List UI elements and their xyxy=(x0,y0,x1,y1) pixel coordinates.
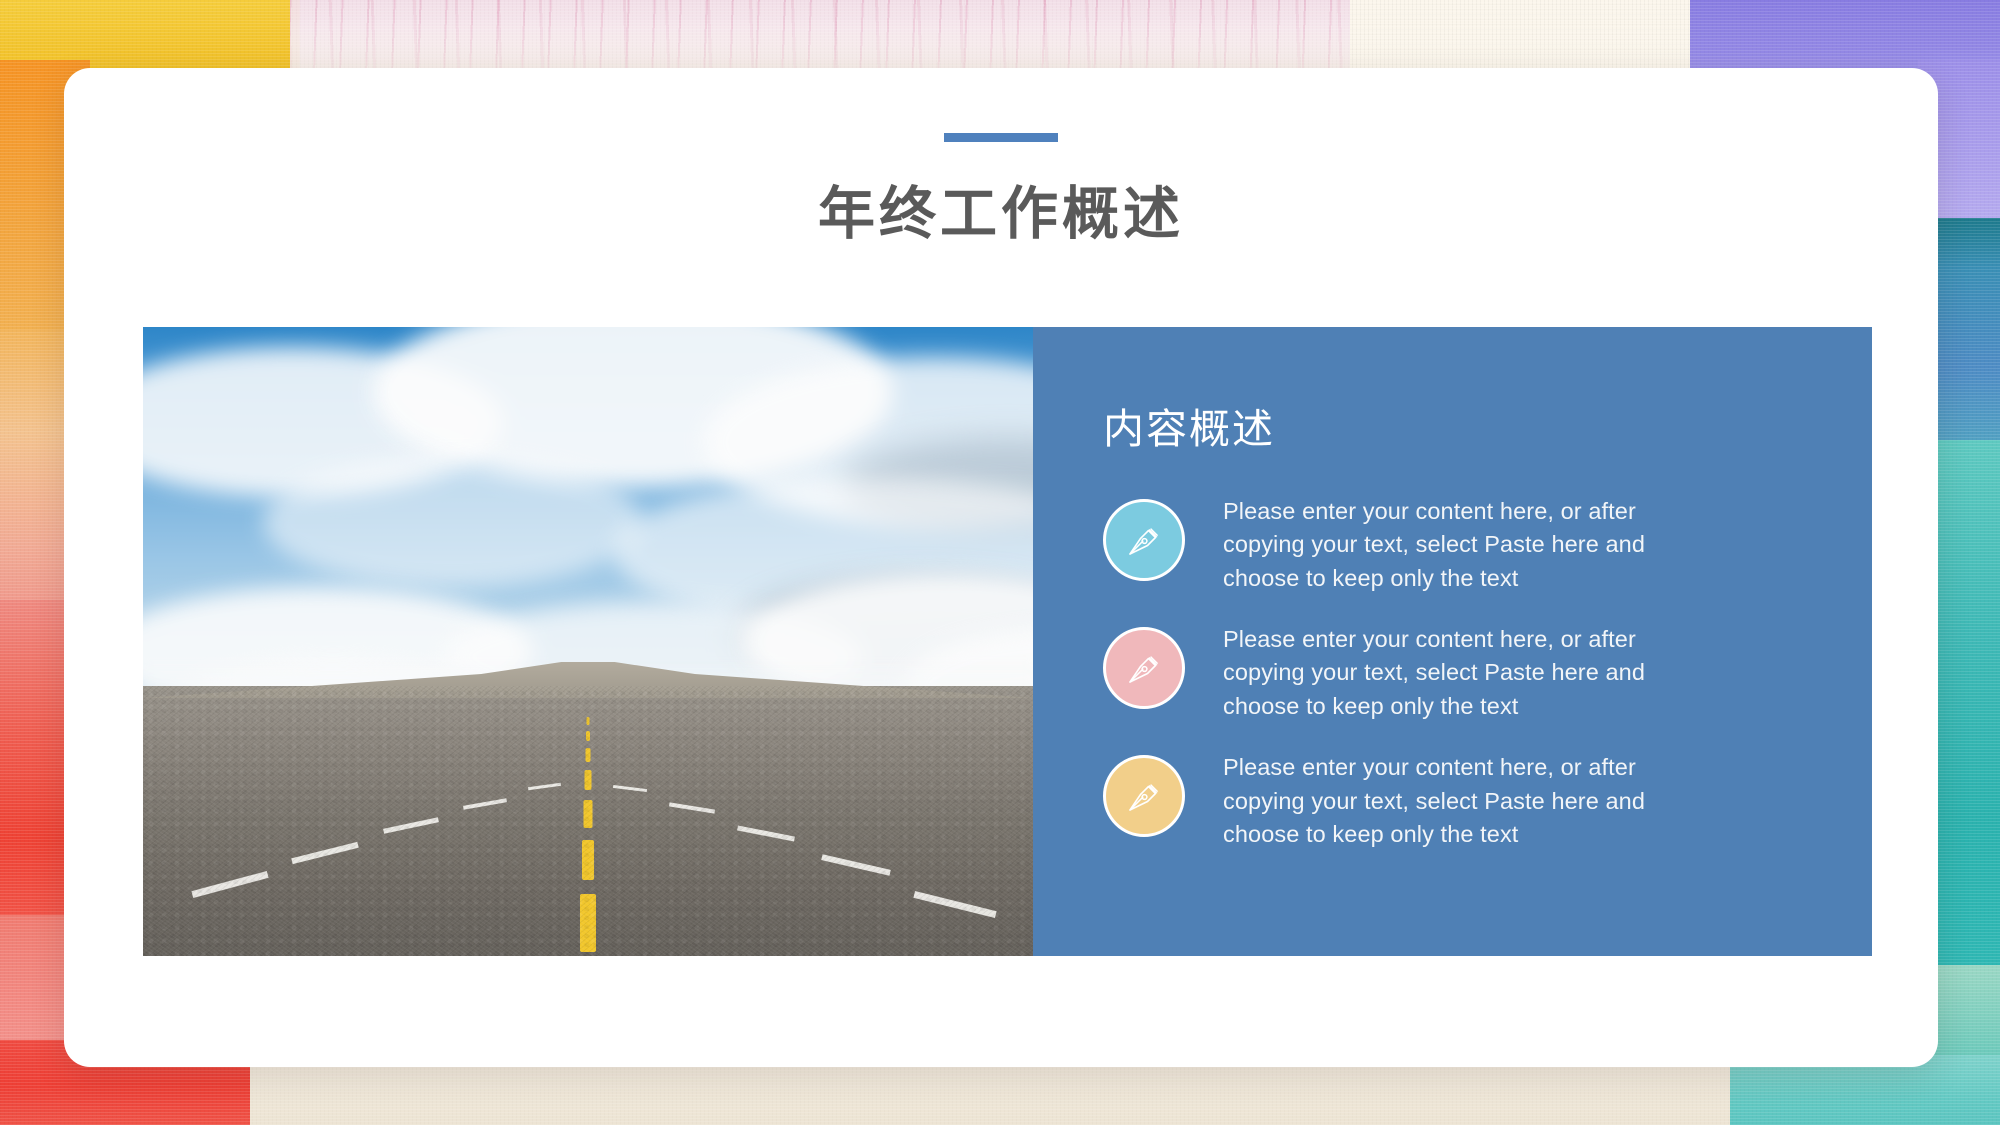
center-line-segment xyxy=(580,894,596,952)
list-item-text: Please enter your content here, or after… xyxy=(1223,623,1693,723)
edge-line-left xyxy=(383,817,439,834)
pen-nib-icon xyxy=(1103,755,1185,837)
edge-line-right xyxy=(613,785,647,792)
list-item[interactable]: Please enter your content here, or after… xyxy=(1103,495,1816,595)
road-asphalt xyxy=(143,686,1033,956)
center-line-segment xyxy=(587,717,590,725)
content-panel: 内容概述 Please enter your content here, or … xyxy=(1033,327,1872,956)
center-line-segment xyxy=(584,800,593,828)
edge-line-left xyxy=(528,783,561,791)
edge-line-right xyxy=(821,854,891,876)
center-line-segment xyxy=(586,748,591,762)
slide-card: 年终工作概述 xyxy=(64,68,1938,1067)
list-item[interactable]: Please enter your content here, or after… xyxy=(1103,623,1816,723)
edge-line-left xyxy=(191,871,268,898)
edge-line-left xyxy=(463,798,507,810)
center-line-segment xyxy=(582,840,594,880)
pen-nib-icon xyxy=(1103,627,1185,709)
slide-content: 内容概述 Please enter your content here, or … xyxy=(143,327,1872,956)
panel-heading: 内容概述 xyxy=(1103,395,1816,455)
page-title: 年终工作概述 xyxy=(64,168,1938,250)
edge-line-left xyxy=(291,842,358,864)
center-line-segment xyxy=(586,731,590,741)
center-line-segment xyxy=(585,770,592,790)
edge-line-right xyxy=(737,826,795,842)
list-item[interactable]: Please enter your content here, or after… xyxy=(1103,751,1816,851)
edge-line-right xyxy=(913,891,996,918)
edge-line-right xyxy=(669,802,715,813)
list-item-text: Please enter your content here, or after… xyxy=(1223,495,1693,595)
cloud xyxy=(263,457,643,587)
list-item-text: Please enter your content here, or after… xyxy=(1223,751,1693,851)
pen-nib-icon xyxy=(1103,499,1185,581)
title-accent-bar xyxy=(944,133,1058,142)
road-landscape-photo xyxy=(143,327,1033,956)
